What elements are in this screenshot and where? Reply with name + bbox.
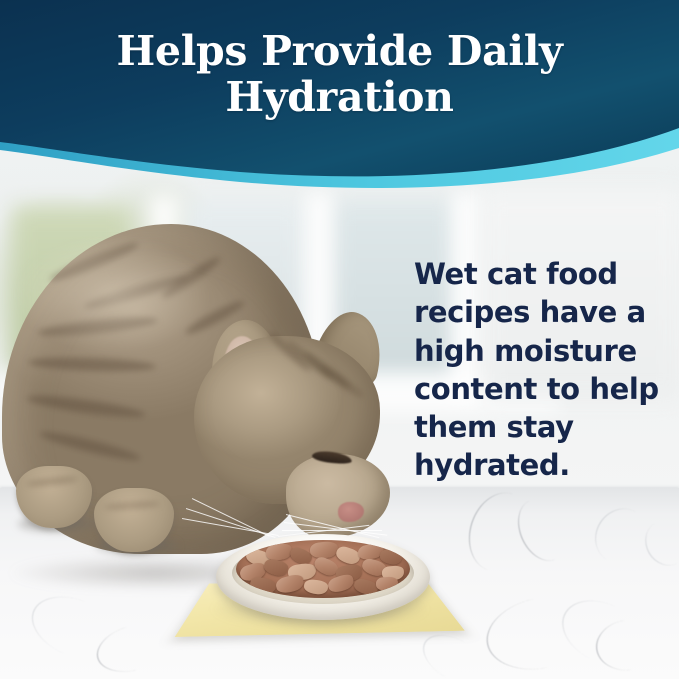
product-feature-image: Helps Provide Daily Hydration Wet cat fo… [0, 0, 679, 679]
wet-cat-food [236, 540, 410, 598]
banner-title: Helps Provide Daily Hydration [0, 28, 679, 121]
banner-title-line-2: Hydration [0, 74, 679, 120]
cat-fur-highlight [12, 234, 212, 354]
banner-title-line-1: Helps Provide Daily [0, 28, 679, 74]
body-paragraph: Wet cat food recipes have a high moistur… [414, 255, 666, 485]
